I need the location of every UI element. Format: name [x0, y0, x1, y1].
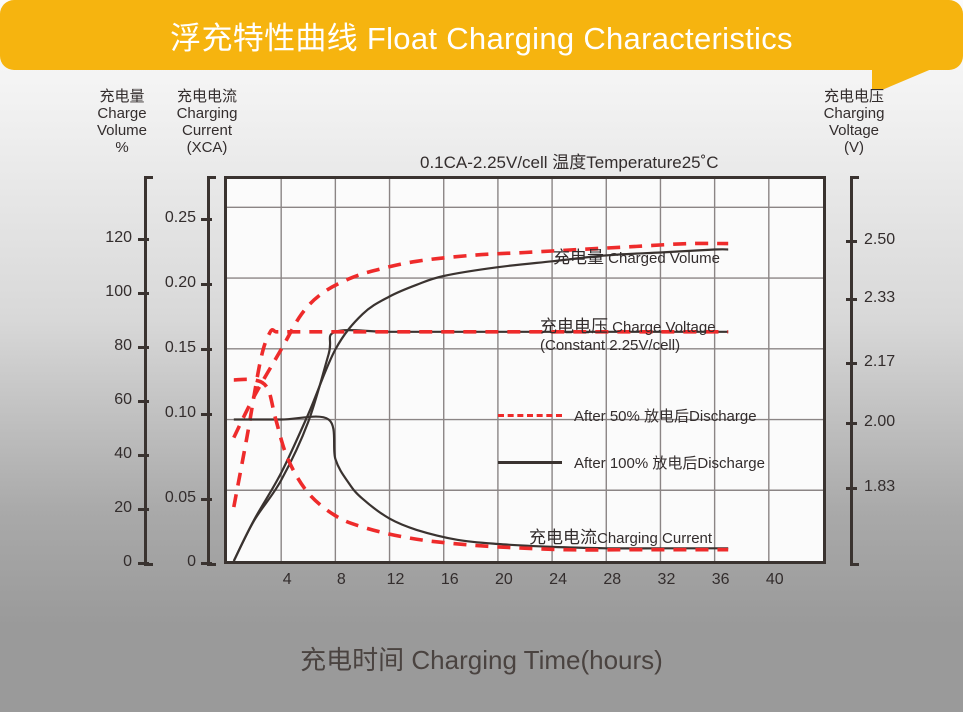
axis-title-line: %	[78, 139, 166, 156]
time-axis-tick-label: 12	[376, 572, 416, 588]
charge-voltage-label-en: Charge Voltage	[608, 319, 716, 336]
legend-label-after-50: After 50% 放电后Discharge	[574, 405, 757, 426]
axis-title-line: Current	[163, 122, 251, 139]
tick-mark	[201, 218, 212, 221]
legend-item-after-50: After 50% 放电后Discharge	[498, 405, 757, 426]
tick-mark	[846, 240, 857, 243]
axis-title-line: Voltage	[808, 122, 900, 139]
charging-voltage-tick-label: 1.83	[864, 479, 895, 495]
time-axis-title: 充电时间 Charging Time(hours)	[0, 640, 963, 677]
charge-volume-tick-label: 120	[66, 230, 132, 246]
time-axis-tick-label: 28	[592, 572, 632, 588]
axis-title-line: 充电电流	[163, 88, 251, 105]
time-axis-tick-label: 36	[701, 572, 741, 588]
charging-voltage-axis-rail	[850, 176, 853, 566]
legend-label-after-100: After 100% 放电后Discharge	[574, 452, 765, 473]
axis-title-line: (XCA)	[163, 139, 251, 156]
charging-current-axis-title: 充电电流 Charging Current (XCA)	[163, 88, 251, 156]
condition-note: 0.1CA-2.25V/cell 温度Temperature25˚C	[420, 148, 719, 173]
tick-mark	[201, 498, 212, 501]
charging-current-label: 充电电流Charging Current	[529, 529, 712, 548]
charge-volume-tick-label: 100	[66, 284, 132, 300]
axis-title-line: 充电量	[78, 88, 166, 105]
charging-current-tick-label: 0.25	[126, 210, 196, 226]
charged-volume-label: 充电量 Charged Volume	[553, 249, 720, 268]
time-axis-tick-label: 4	[267, 572, 307, 588]
tick-mark	[138, 238, 149, 241]
tick-mark	[201, 348, 212, 351]
time-axis-tick-label: 16	[430, 572, 470, 588]
solid-line-swatch-icon	[498, 461, 562, 464]
tick-mark	[846, 298, 857, 301]
time-axis-tick-label: 24	[538, 572, 578, 588]
charging-voltage-axis-title: 充电电压 Charging Voltage (V)	[808, 88, 900, 156]
tick-mark	[138, 454, 149, 457]
charge-volume-tick-label: 0	[66, 554, 132, 570]
chart-canvas	[227, 179, 823, 561]
charging-current-tick-label: 0.20	[126, 275, 196, 291]
charging-voltage-tick-label: 2.50	[864, 232, 895, 248]
curve-group	[234, 243, 728, 561]
chart-plot-area	[224, 176, 826, 564]
time-axis-tick-label: 20	[484, 572, 524, 588]
charging-current-label-en: Charging Current	[597, 530, 712, 547]
legend-item-after-100: After 100% 放电后Discharge	[498, 452, 765, 473]
page-title: 浮充特性曲线 Float Charging Characteristics	[0, 0, 963, 70]
tick-mark	[846, 422, 857, 425]
tick-mark	[846, 362, 857, 365]
dashed-line-swatch-icon	[498, 414, 562, 417]
charging-voltage-tick-label: 2.17	[864, 354, 895, 370]
time-axis-tick-label: 8	[321, 572, 361, 588]
charge-volume-axis-title: 充电量 Charge Volume %	[78, 88, 166, 156]
tick-mark	[138, 292, 149, 295]
tick-mark	[201, 283, 212, 286]
charged-volume-label-en: Charged Volume	[604, 250, 720, 267]
charge-volume-tick-label: 60	[66, 392, 132, 408]
charge-volume-tick-label: 40	[66, 446, 132, 462]
axis-title-line: Charging	[808, 105, 900, 122]
axis-title-line: 充电电压	[808, 88, 900, 105]
tick-mark	[201, 562, 212, 565]
tick-mark	[138, 508, 149, 511]
charging-current-tick-label: 0.10	[126, 405, 196, 421]
charge-voltage-label-sub: (Constant 2.25V/cell)	[540, 337, 716, 355]
axis-title-line: Charging	[163, 105, 251, 122]
charging-current-axis-rail	[207, 176, 210, 566]
charge-voltage-label-cn: 充电电压	[540, 317, 608, 336]
charging-current-label-cn: 充电电流	[529, 528, 597, 547]
chart-curve	[234, 330, 728, 561]
time-axis-tick-label: 40	[755, 572, 795, 588]
title-banner: 浮充特性曲线 Float Charging Characteristics	[0, 0, 963, 78]
banner-tail	[872, 68, 934, 90]
charge-volume-tick-label: 80	[66, 338, 132, 354]
time-axis-tick-label: 32	[646, 572, 686, 588]
axis-title-line: (V)	[808, 139, 900, 156]
charging-voltage-tick-label: 2.00	[864, 414, 895, 430]
tick-mark	[846, 487, 857, 490]
charged-volume-label-cn: 充电量	[553, 248, 604, 267]
charging-current-tick-label: 0.05	[126, 490, 196, 506]
charging-current-tick-label: 0	[126, 554, 196, 570]
axis-title-line: Charge	[78, 105, 166, 122]
charging-voltage-tick-label: 2.33	[864, 290, 895, 306]
axis-title-line: Volume	[78, 122, 166, 139]
charge-voltage-label: 充电电压 Charge Voltage (Constant 2.25V/cell…	[540, 318, 716, 355]
tick-mark	[201, 413, 212, 416]
charging-current-tick-label: 0.15	[126, 340, 196, 356]
charge-volume-tick-label: 20	[66, 500, 132, 516]
tick-mark	[138, 400, 149, 403]
